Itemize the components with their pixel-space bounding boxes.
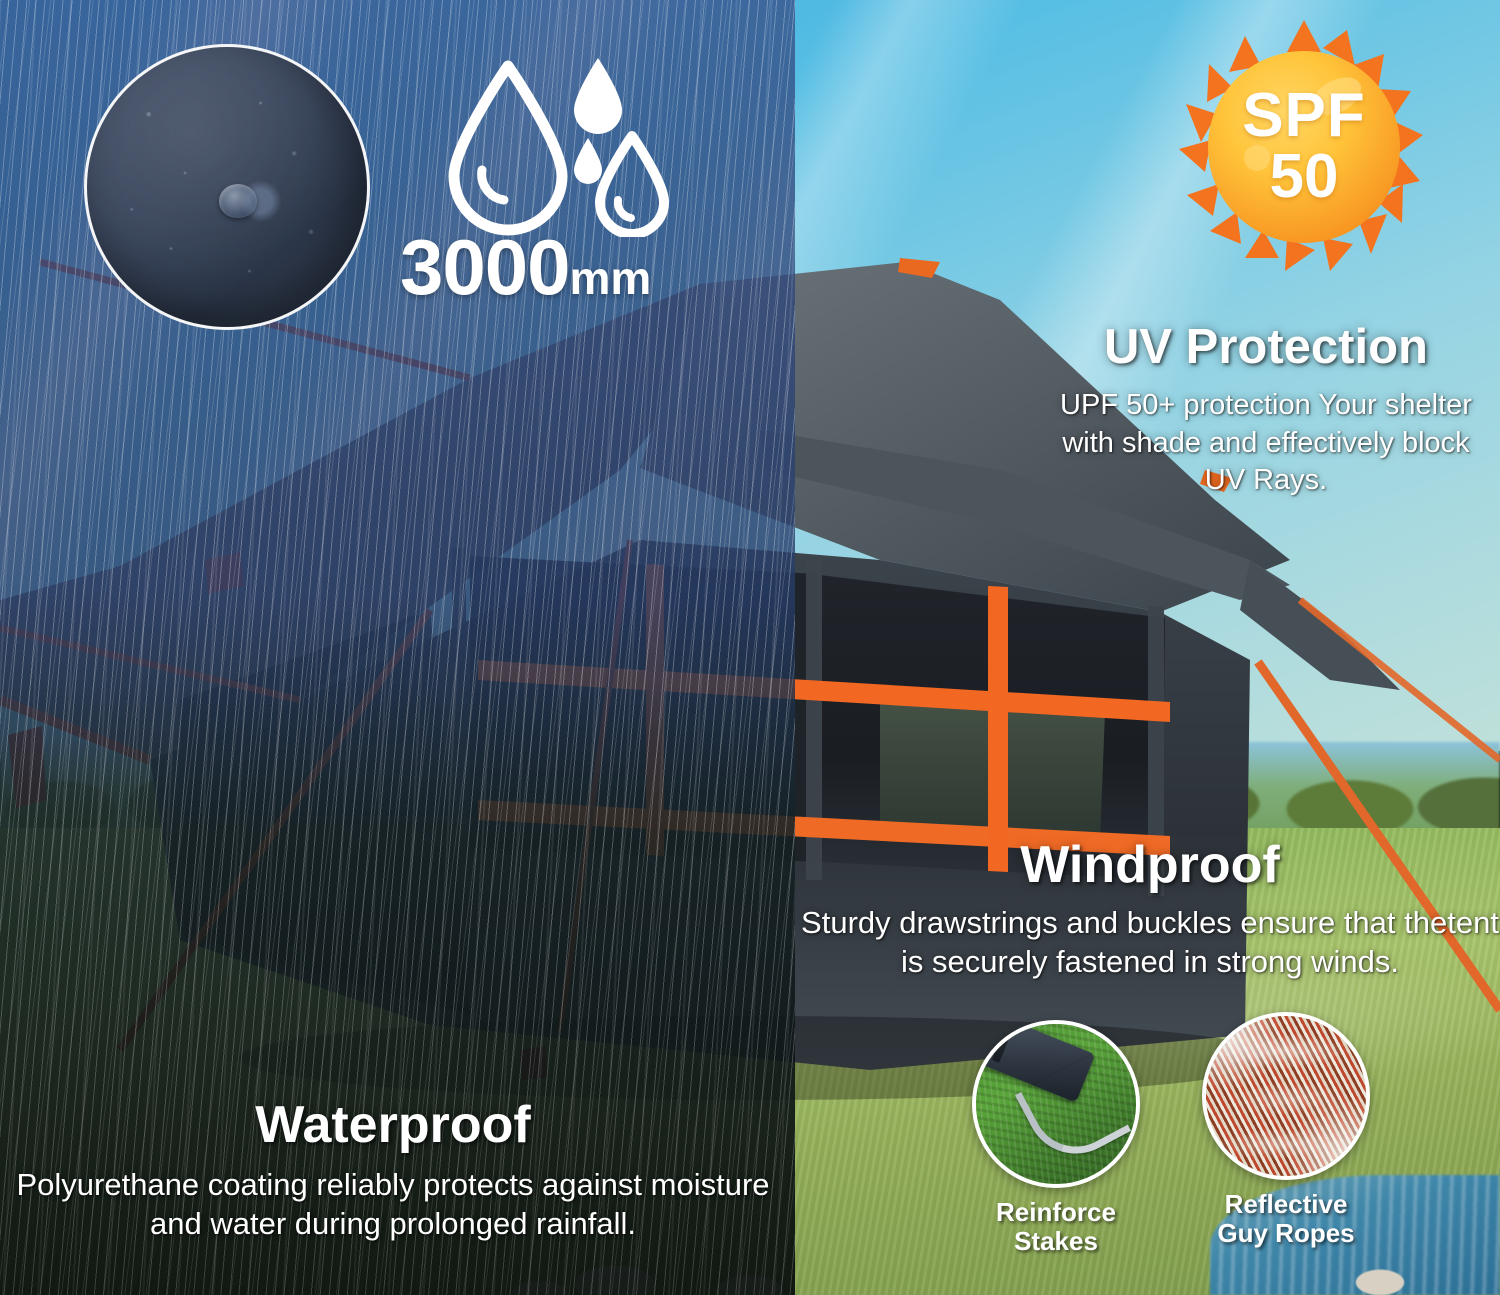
reinforce-stakes-caption-line2: Stakes <box>962 1227 1150 1256</box>
water-bead-droplet <box>219 184 257 218</box>
waterproof-body: Polyurethane coating reliably protects a… <box>12 1165 774 1244</box>
uv-protection-heading: UV Protection <box>1040 322 1492 373</box>
coiled-guy-ropes-image <box>1206 1016 1366 1176</box>
windproof-heading: Windproof <box>800 838 1500 893</box>
windproof-body: Sturdy drawstrings and buckles ensure th… <box>800 903 1500 982</box>
reinforce-stakes-caption: Reinforce Stakes <box>962 1198 1150 1256</box>
uv-protection-body: UPF 50+ protection Your shelter with sha… <box>1040 387 1492 498</box>
spf-label: SPF 50 <box>1175 18 1433 276</box>
product-feature-infographic: 3000mm <box>0 0 1500 1295</box>
reinforce-stakes-photo <box>972 1020 1140 1188</box>
reinforce-stakes-caption-line1: Reinforce <box>962 1198 1150 1227</box>
reflective-guy-ropes-caption-line2: Guy Ropes <box>1192 1219 1380 1248</box>
reflective-guy-ropes-caption: Reflective Guy Ropes <box>1192 1190 1380 1248</box>
waterproof-heading: Waterproof <box>12 1098 774 1153</box>
stake-in-grass-image <box>976 1024 1136 1184</box>
detail-circle-reinforce-stakes: Reinforce Stakes <box>962 1020 1150 1256</box>
uv-protection-block: UV Protection UPF 50+ protection Your sh… <box>1040 322 1492 499</box>
reflective-guy-ropes-caption-line1: Reflective <box>1192 1190 1380 1219</box>
spf-label-line2: 50 <box>1270 147 1339 208</box>
sun-icon: SPF 50 <box>1175 18 1433 276</box>
spf-label-line1: SPF <box>1242 86 1366 147</box>
reflective-guy-ropes-photo <box>1202 1012 1370 1180</box>
waterproof-rating-value: 3000 <box>400 223 570 311</box>
windproof-block: Windproof Sturdy drawstrings and buckles… <box>800 838 1500 982</box>
water-beading-fabric-swatch <box>84 44 370 330</box>
waterproof-rating: 3000mm <box>400 228 730 306</box>
waterproof-rating-unit: mm <box>570 252 652 304</box>
water-droplets-icon <box>446 52 686 237</box>
waterproof-block: Waterproof Polyurethane coating reliably… <box>12 1098 774 1244</box>
detail-circle-reflective-guy-ropes: Reflective Guy Ropes <box>1192 1012 1380 1248</box>
